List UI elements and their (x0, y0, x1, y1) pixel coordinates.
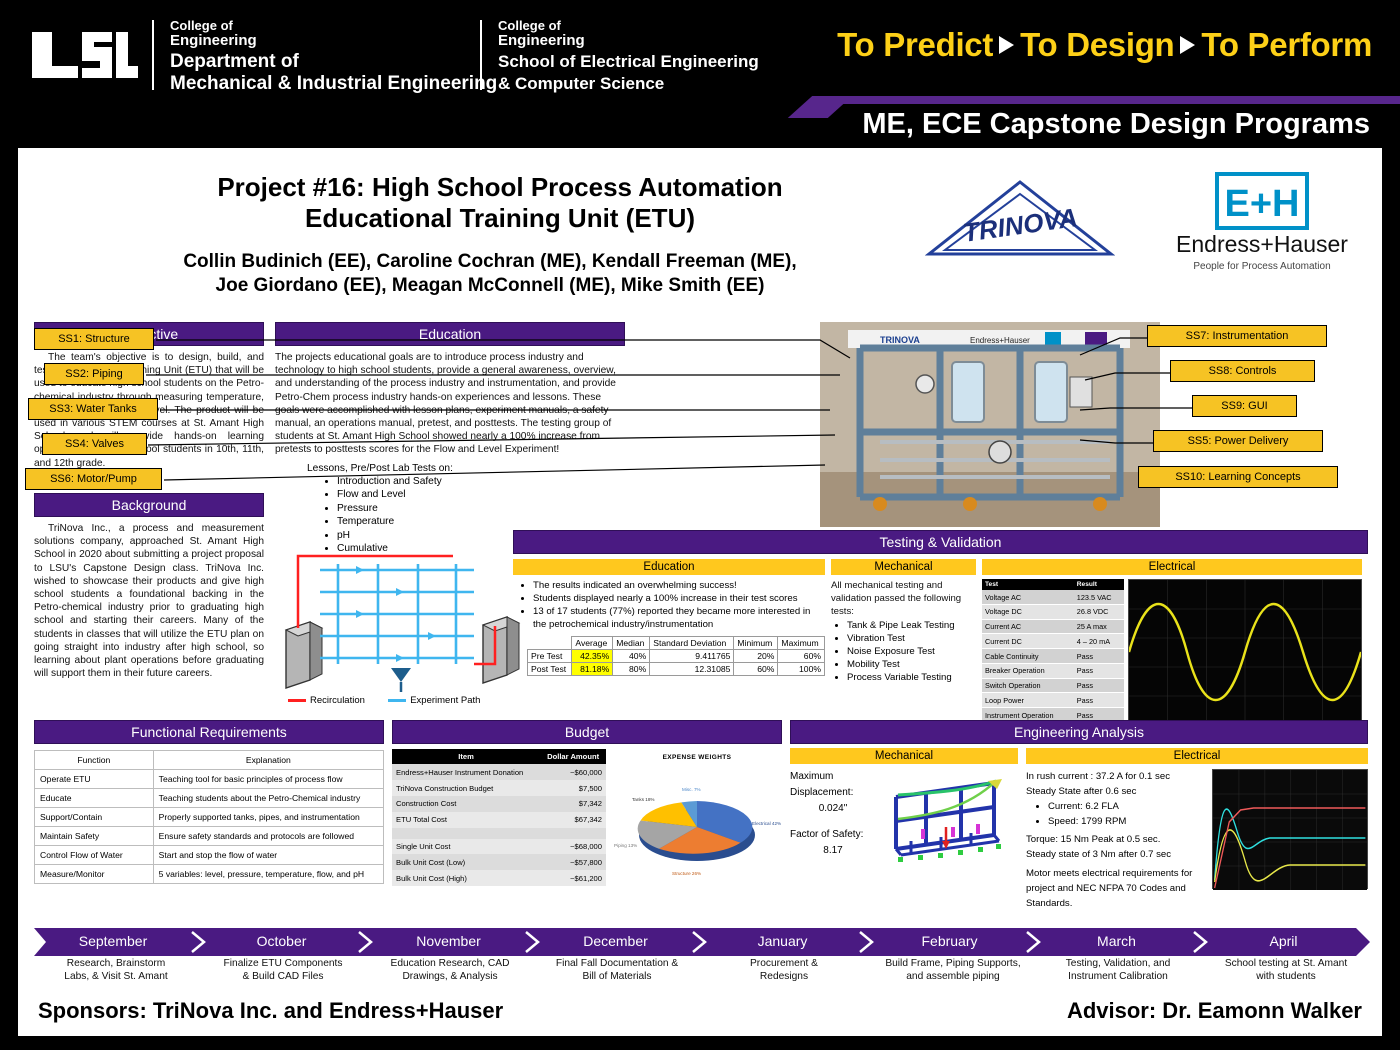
background-section: Background TriNova Inc., a process and m… (34, 493, 264, 680)
header-divider-2 (480, 20, 482, 90)
eh-tagline: People for Process Automation (1193, 261, 1330, 272)
fr-function-3: Maintain Safety (35, 827, 154, 846)
callout-ss6: SS6: Motor/Pump (25, 468, 162, 490)
timeline-desc-march: Testing, Validation, and Instrument Cali… (1035, 957, 1201, 983)
eh-company-name: Endress+Hauser (1176, 231, 1348, 257)
timeline-desc-october-l1: Finalize ETU Components (200, 957, 366, 970)
testing-electrical-heading: Electrical (982, 559, 1362, 575)
author-list: Collin Budinich (EE), Caroline Cochran (… (40, 250, 940, 298)
budget-item-6: Bulk Unit Cost (Low) (392, 854, 540, 870)
budget-amount-6: ~$57,800 (540, 854, 606, 870)
slice-label-piping: Piping 13% (614, 843, 637, 848)
table-row: Voltage DC26.8 VDC (982, 604, 1124, 619)
table-row: Support/ContainProperly supported tanks,… (35, 808, 384, 827)
poster-header: College of Engineering Department of Mec… (0, 0, 1400, 148)
torque-peak-text: Torque: 15 Nm Peak at 0.5 sec. (1026, 832, 1206, 847)
electrical-bullets: Current: 6.2 FLA Speed: 1799 RPM (1034, 799, 1206, 829)
table-row: Bulk Unit Cost (High)~$61,200 (392, 870, 606, 886)
testing-education-heading: Education (513, 559, 825, 575)
table-header-row: Item Dollar Amount (392, 749, 606, 764)
budget-item-3: ETU Total Cost (392, 812, 540, 828)
engineering-analysis-heading: Engineering Analysis (790, 720, 1368, 744)
timeline-month-september: September (34, 928, 192, 954)
budget-section: Budget Item Dollar Amount Endress+Hauser… (392, 720, 782, 886)
analysis-electrical-heading: Electrical (1026, 748, 1368, 764)
steady-state-text: Steady State after 0.6 sec (1026, 784, 1206, 799)
slice-label-structure: Structure 26% (672, 871, 701, 876)
header-divider-1 (152, 20, 154, 90)
list-item: Introduction and Safety (337, 475, 625, 489)
inrush-current-text: In rush current : 37.2 A for 0.1 sec (1026, 769, 1206, 784)
trinova-wordmark: TRINOVA (961, 202, 1079, 248)
row-label-post-test: Post Test (528, 663, 572, 676)
lessons-heading: Lessons, Pre/Post Lab Tests on: (307, 463, 625, 474)
timeline-desc-april-l1: School testing at St. Amant (1202, 957, 1370, 970)
budget-item-4 (392, 828, 540, 839)
project-timeline: September October November December Janu… (34, 928, 1370, 998)
test-scores-table: Average Median Standard Deviation Minimu… (527, 636, 825, 676)
budget-amount-0: ~$60,000 (540, 764, 606, 780)
timeline-desc-march-l2: Instrument Calibration (1035, 970, 1201, 983)
table-row: Breaker OperationPass (982, 663, 1124, 678)
elec-result-3: 4 – 20 mA (1074, 634, 1124, 649)
table-row: Operate ETUTeaching tool for basic princ… (35, 770, 384, 789)
pre-min: 20% (734, 650, 778, 663)
functional-requirements-section: Functional Requirements Function Explana… (34, 720, 384, 884)
timeline-desc-april-l2: with students (1202, 970, 1370, 983)
timeline-month-november: November (371, 928, 526, 954)
education-section: Education The projects educational goals… (275, 322, 625, 556)
expense-weights-chart: EXPENSE WEIGHTS Electrical 42% (612, 744, 782, 886)
table-row: Endress+Hauser Instrument Donation~$60,0… (392, 764, 606, 780)
timeline-desc-january-l1: Procurement & (701, 957, 867, 970)
table-row: Switch OperationPass (982, 678, 1124, 693)
budget-item-7: Bulk Unit Cost (High) (392, 870, 540, 886)
fr-explanation-5: 5 variables: level, pressure, temperatur… (153, 865, 383, 884)
elec-result-7: Pass (1074, 693, 1124, 708)
timeline-desc-october: Finalize ETU Components & Build CAD File… (200, 957, 366, 983)
timeline-desc-december-l1: Final Fall Documentation & (534, 957, 700, 970)
table-row: Pre Test 42.35% 40% 9.411765 20% 60% (528, 650, 825, 663)
elec-result-4: Pass (1074, 649, 1124, 664)
flow-diagram-legend: Recirculation Experiment Path (288, 695, 538, 706)
timeline-desc-september: Research, Brainstorm Labs, & Visit St. A… (34, 957, 198, 983)
callout-ss1: SS1: Structure (34, 328, 154, 350)
mie-dept-block: College of Engineering Department of Mec… (170, 18, 497, 95)
callout-ss2: SS2: Piping (44, 363, 144, 385)
endress-hauser-logo: E+H Endress+Hauser People for Process Au… (1155, 172, 1370, 277)
row-label-pre-test: Pre Test (528, 650, 572, 663)
authors-line-2: Joe Giordano (EE), Meagan McConnell (ME)… (40, 274, 940, 298)
callout-ss4: SS4: Valves (42, 433, 147, 455)
callout-ss7: SS7: Instrumentation (1147, 325, 1327, 347)
max-displacement-label-2: Displacement: (790, 785, 876, 801)
table-header-row: Test Result (982, 579, 1124, 590)
timeline-month-october: October (204, 928, 359, 954)
education-heading: Education (275, 322, 625, 346)
analysis-mechanical-heading: Mechanical (790, 748, 1018, 764)
tagline-design: To Design (1020, 26, 1174, 63)
elec-result-1: 26.8 VDC (1074, 604, 1124, 619)
timeline-desc-october-l2: & Build CAD Files (200, 970, 366, 983)
engineering-analysis-section: Engineering Analysis Mechanical Maximum … (790, 720, 1368, 911)
elec-test-7: Loop Power (982, 693, 1074, 708)
budget-item-5: Single Unit Cost (392, 839, 540, 855)
timeline-desc-january-l2: Redesigns (701, 970, 867, 983)
timeline-month-february: February (872, 928, 1027, 954)
table-row: Current AC25 A max (982, 619, 1124, 634)
timeline-desc-november-l2: Drawings, & Analysis (367, 970, 533, 983)
table-row: Post Test 81.18% 80% 12.31085 60% 100% (528, 663, 825, 676)
recirculation-line-swatch (288, 699, 306, 702)
table-row: Single Unit Cost~$68,000 (392, 839, 606, 855)
slice-label-misc: Misc. 7% (682, 787, 701, 792)
oscilloscope-waveform (1128, 579, 1362, 723)
list-item: Pressure (337, 502, 625, 516)
list-item: Flow and Level (337, 488, 625, 502)
slice-label-tanks: Tanks 18% (632, 797, 654, 802)
testing-mechanical-bullets: Tank & Pipe Leak Testing Vibration Test … (833, 619, 976, 684)
list-item: Students displayed nearly a 100% increas… (533, 592, 825, 605)
svg-text:Endress+Hauser: Endress+Hauser (970, 336, 1030, 345)
svg-text:TRINOVA: TRINOVA (880, 335, 920, 345)
callout-ss9: SS9: GUI (1192, 395, 1297, 417)
header-subtagline: ME, ECE Capstone Design Programs (862, 108, 1370, 141)
motor-compliance-text: Motor meets electrical requirements for … (1026, 866, 1206, 911)
list-item: Current: 6.2 FLA (1048, 799, 1206, 814)
list-item: Temperature (337, 515, 625, 529)
torque-steady-text: Steady state of 3 Nm after 0.7 sec (1026, 847, 1206, 862)
fr-explanation-1: Teaching students about the Petro-Chemic… (153, 789, 383, 808)
elec-test-1: Voltage DC (982, 604, 1074, 619)
etu-photo: TRINOVA Endress+Hauser (820, 322, 1160, 527)
testing-electrical-block: Electrical Test Result Voltage AC123.5 V… (982, 559, 1362, 723)
budget-amount-3: $67,342 (540, 812, 606, 828)
trinova-logo: TRINOVA (925, 178, 1115, 258)
timeline-desc-september-l2: Labs, & Visit St. Amant (34, 970, 198, 983)
testing-education-bullets: The results indicated an overwhelming su… (519, 579, 825, 631)
table-row: Bulk Unit Cost (Low)~$57,800 (392, 854, 606, 870)
col-minimum: Minimum (734, 637, 778, 650)
process-flow-diagram (278, 540, 528, 720)
testing-validation-section: Testing & Validation Education The resul… (513, 530, 1368, 723)
table-row: Measure/Monitor5 variables: level, press… (35, 865, 384, 884)
col-median: Median (613, 637, 650, 650)
list-item: Speed: 1799 RPM (1048, 814, 1206, 829)
post-max: 100% (778, 663, 825, 676)
col-maximum: Maximum (778, 637, 825, 650)
budget-heading: Budget (392, 720, 782, 744)
table-row: Construction Cost$7,342 (392, 796, 606, 812)
chart-title: EXPENSE WEIGHTS (612, 754, 782, 761)
title-line-1: Project #16: High School Process Automat… (60, 172, 940, 203)
mie-dept-line2: Mechanical & Industrial Engineering (170, 73, 497, 95)
budget-amount-5: ~$68,000 (540, 839, 606, 855)
elec-test-4: Cable Continuity (982, 649, 1074, 664)
timeline-desc-february-l2: and assemble piping (868, 970, 1038, 983)
mie-engineering-label: Engineering (170, 33, 497, 48)
list-item: Tank & Pipe Leak Testing (847, 619, 976, 632)
elec-test-2: Current AC (982, 619, 1074, 634)
callout-ss8: SS8: Controls (1170, 360, 1315, 382)
table-row: ETU Total Cost$67,342 (392, 812, 606, 828)
budget-table: Item Dollar Amount Endress+Hauser Instru… (392, 749, 606, 886)
authors-line-1: Collin Budinich (EE), Caroline Cochran (… (40, 250, 940, 274)
col-test: Test (982, 579, 1074, 590)
post-stddev: 12.31085 (650, 663, 734, 676)
legend-experiment-label: Experiment Path (410, 695, 480, 706)
table-row-spacer (392, 828, 606, 839)
timeline-month-march: March (1039, 928, 1194, 954)
functional-requirements-table: Function Explanation Operate ETUTeaching… (34, 750, 384, 884)
max-displacement-value: 0.024" (790, 801, 876, 817)
factor-of-safety-label: Factor of Safety: (790, 827, 876, 843)
timeline-desc-december: Final Fall Documentation & Bill of Mater… (534, 957, 700, 983)
timeline-desc-september-l1: Research, Brainstorm (34, 957, 198, 970)
list-item: 13 of 17 students (77%) reported they be… (533, 605, 825, 631)
title-line-2: Educational Training Unit (ETU) (60, 203, 940, 234)
background-heading: Background (34, 493, 264, 517)
poster-body: Project #16: High School Process Automat… (18, 148, 1382, 1036)
page-title: Project #16: High School Process Automat… (60, 172, 940, 234)
ece-engineering-label: Engineering (498, 33, 759, 48)
timeline-desc-november-l1: Education Research, CAD (367, 957, 533, 970)
analysis-electrical-block: Electrical In rush current : 37.2 A for … (1026, 748, 1368, 911)
electrical-results-table: Test Result Voltage AC123.5 VAC Voltage … (982, 579, 1124, 723)
budget-item-1: TriNova Construction Budget (392, 780, 540, 796)
col-dollar-amount: Dollar Amount (540, 749, 606, 764)
pre-average: 42.35% (572, 650, 613, 663)
col-function: Function (35, 751, 154, 770)
budget-amount-2: $7,342 (540, 796, 606, 812)
advisor-line: Advisor: Dr. Eamonn Walker (1067, 998, 1362, 1024)
elec-test-0: Voltage AC (982, 590, 1074, 604)
experiment-line-swatch (388, 699, 406, 702)
post-min: 60% (734, 663, 778, 676)
list-item: Mobility Test (847, 658, 976, 671)
budget-item-2: Construction Cost (392, 796, 540, 812)
pre-max: 60% (778, 650, 825, 663)
ece-dept-line1: School of Electrical Engineering (498, 51, 759, 73)
fr-function-0: Operate ETU (35, 770, 154, 789)
elec-result-2: 25 A max (1074, 619, 1124, 634)
testing-mechanical-block: Mechanical All mechanical testing and va… (831, 559, 976, 723)
sponsors-line: Sponsors: TriNova Inc. and Endress+Hause… (38, 998, 503, 1024)
list-item: Noise Exposure Test (847, 645, 976, 658)
timeline-month-january: January (705, 928, 860, 954)
header-tagline: To PredictTo DesignTo Perform (837, 26, 1372, 64)
table-row: EducateTeaching students about the Petro… (35, 789, 384, 808)
timeline-month-april: April (1206, 928, 1361, 954)
tagline-predict: To Predict (837, 26, 993, 63)
fr-explanation-2: Properly supported tanks, pipes, and ins… (153, 808, 383, 827)
timeline-month-december: December (538, 928, 693, 954)
fea-frame-render (876, 769, 1018, 886)
elec-test-5: Breaker Operation (982, 663, 1074, 678)
table-row: Maintain SafetyEnsure safety standards a… (35, 827, 384, 846)
functional-requirements-heading: Functional Requirements (34, 720, 384, 744)
col-stddev: Standard Deviation (650, 637, 734, 650)
arrow-right-icon-1 (999, 36, 1014, 54)
table-row: Loop PowerPass (982, 693, 1124, 708)
post-average: 81.18% (572, 663, 613, 676)
arrow-right-icon-2 (1180, 36, 1195, 54)
ece-dept-line2: & Computer Science (498, 73, 759, 95)
budget-amount-1: $7,500 (540, 780, 606, 796)
elec-test-3: Current DC (982, 634, 1074, 649)
testing-education-block: Education The results indicated an overw… (513, 559, 825, 723)
slice-label-electrical: Electrical 42% (752, 821, 781, 826)
lsu-logo (30, 30, 140, 80)
fr-function-5: Measure/Monitor (35, 865, 154, 884)
table-row: TriNova Construction Budget$7,500 (392, 780, 606, 796)
timeline-desc-december-l2: Bill of Materials (534, 970, 700, 983)
elec-result-6: Pass (1074, 678, 1124, 693)
list-item: The results indicated an overwhelming su… (533, 579, 825, 592)
ece-dept-block: College of Engineering School of Electri… (498, 18, 759, 95)
col-average: Average (572, 637, 613, 650)
testing-mechanical-intro: All mechanical testing and validation pa… (831, 579, 976, 619)
tagline-perform: To Perform (1201, 26, 1372, 63)
timeline-desc-february-l1: Build Frame, Piping Supports, (868, 957, 1038, 970)
education-text: The projects educational goals are to in… (275, 351, 625, 457)
factor-of-safety-value: 8.17 (790, 843, 876, 859)
timeline-desc-march-l1: Testing, Validation, and (1035, 957, 1201, 970)
list-item: Process Variable Testing (847, 671, 976, 684)
timeline-desc-november: Education Research, CAD Drawings, & Anal… (367, 957, 533, 983)
ece-college-label: College of (498, 18, 759, 33)
fr-function-4: Control Flow of Water (35, 846, 154, 865)
callout-ss10: SS10: Learning Concepts (1138, 466, 1338, 488)
table-header-row: Function Explanation (35, 751, 384, 770)
col-item: Item (392, 749, 540, 764)
legend-recirculation-label: Recirculation (310, 695, 365, 706)
max-displacement-label-1: Maximum (790, 769, 876, 785)
motor-plot (1212, 769, 1368, 889)
pre-median: 40% (613, 650, 650, 663)
testing-heading: Testing & Validation (513, 530, 1368, 554)
budget-amount-7: ~$61,200 (540, 870, 606, 886)
list-item: Vibration Test (847, 632, 976, 645)
table-row: Current DC4 – 20 mA (982, 634, 1124, 649)
mie-college-label: College of (170, 18, 497, 33)
eh-mark-text: E+H (1225, 183, 1300, 225)
fr-function-1: Educate (35, 789, 154, 808)
fr-function-2: Support/Contain (35, 808, 154, 827)
table-row: Control Flow of WaterStart and stop the … (35, 846, 384, 865)
fr-explanation-3: Ensure safety standards and protocols ar… (153, 827, 383, 846)
col-result: Result (1074, 579, 1124, 590)
mie-dept-line1: Department of (170, 51, 497, 73)
col-explanation: Explanation (153, 751, 383, 770)
table-row: Cable ContinuityPass (982, 649, 1124, 664)
table-header-row: Average Median Standard Deviation Minimu… (528, 637, 825, 650)
pre-stddev: 9.411765 (650, 650, 734, 663)
timeline-desc-january: Procurement & Redesigns (701, 957, 867, 983)
budget-amount-4 (540, 828, 606, 839)
fr-explanation-4: Start and stop the flow of water (153, 846, 383, 865)
post-median: 80% (613, 663, 650, 676)
header-purple-band (830, 96, 1400, 104)
timeline-desc-april: School testing at St. Amant with student… (1202, 957, 1370, 983)
budget-item-0: Endress+Hauser Instrument Donation (392, 764, 540, 780)
elec-result-5: Pass (1074, 663, 1124, 678)
callout-ss3: SS3: Water Tanks (28, 398, 158, 420)
table-row: Voltage AC123.5 VAC (982, 590, 1124, 604)
fr-explanation-0: Teaching tool for basic principles of pr… (153, 770, 383, 789)
elec-result-0: 123.5 VAC (1074, 590, 1124, 604)
callout-ss5: SS5: Power Delivery (1153, 430, 1323, 452)
timeline-desc-february: Build Frame, Piping Supports, and assemb… (868, 957, 1038, 983)
analysis-mechanical-block: Mechanical Maximum Displacement: 0.024" … (790, 748, 1018, 911)
background-text: TriNova Inc., a process and measurement … (34, 522, 264, 680)
elec-test-6: Switch Operation (982, 678, 1074, 693)
testing-mechanical-heading: Mechanical (831, 559, 976, 575)
